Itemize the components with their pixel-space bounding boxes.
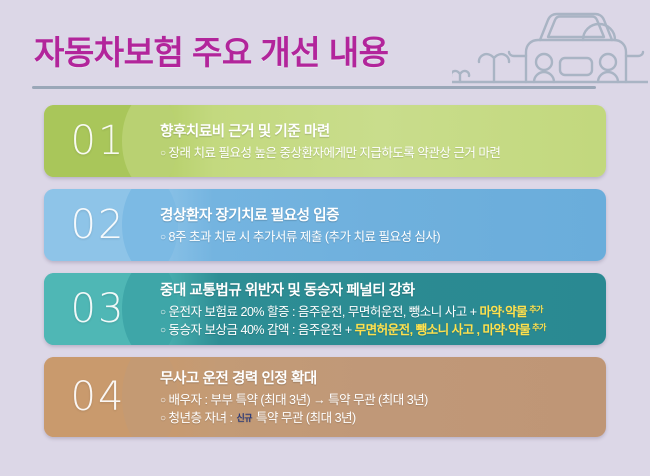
row-bullet: ○동승자 보상금 40% 감액 : 음주운전 + 무면허운전, 뺑소니 사고 ,… bbox=[160, 321, 594, 339]
car-front-illustration bbox=[452, 4, 648, 90]
bullet-text: 배우자 : 부부 특약 (최대 3년) → 특약 무관 (최대 3년) bbox=[169, 393, 428, 407]
row-number-badge-03: 03 bbox=[44, 273, 152, 345]
new-badge: 신규 bbox=[236, 413, 252, 423]
row-title: 무사고 운전 경력 인정 확대 bbox=[160, 367, 594, 388]
bullet-superscript: 추가 bbox=[529, 305, 543, 314]
bullet-marker-icon: ○ bbox=[160, 325, 166, 336]
bullet-superscript: 추가 bbox=[532, 323, 546, 332]
row-content-03: 중대 교통법규 위반자 및 동승자 페널티 강화 ○운전자 보험료 20% 할증… bbox=[156, 273, 594, 345]
row-bullet: ○청년층 자녀 : 신규 특약 무관 (최대 3년) bbox=[160, 409, 594, 427]
improvement-list: 01 향후치료비 근거 및 기준 마련 ○장래 치료 필요성 높은 중상환자에게… bbox=[0, 105, 650, 449]
bullet-text: 장래 치료 필요성 높은 중상환자에게만 지급하도록 약관상 근거 마련 bbox=[169, 146, 501, 160]
improvement-row-02[interactable]: 02 경상환자 장기치료 필요성 입증 ○8주 초과 치료 시 추가서류 제출 … bbox=[44, 189, 606, 261]
bullet-text: 8주 초과 치료 시 추가서류 제출 (추가 치료 필요성 심사) bbox=[169, 230, 441, 244]
bullet-text-lead: 운전자 보험료 20% 할증 : 음주운전, 무면허운전, 뺑소니 사고 + bbox=[169, 305, 480, 319]
bullet-marker-icon: ○ bbox=[160, 413, 166, 424]
row-number-badge-02: 02 bbox=[44, 189, 152, 261]
row-content-01: 향후치료비 근거 및 기준 마련 ○장래 치료 필요성 높은 중상환자에게만 지… bbox=[156, 105, 594, 177]
bullet-text-lead: 청년층 자녀 : bbox=[169, 411, 236, 425]
row-number-text: 03 bbox=[71, 286, 126, 332]
improvement-row-01[interactable]: 01 향후치료비 근거 및 기준 마련 ○장래 치료 필요성 높은 중상환자에게… bbox=[44, 105, 606, 177]
bullet-marker-icon: ○ bbox=[160, 148, 166, 159]
row-bullet: ○장래 치료 필요성 높은 중상환자에게만 지급하도록 약관상 근거 마련 bbox=[160, 144, 594, 162]
row-bullet: ○배우자 : 부부 특약 (최대 3년) → 특약 무관 (최대 3년) bbox=[160, 391, 594, 409]
bullet-text-tail: 특약 무관 (최대 3년) bbox=[253, 411, 356, 425]
improvement-row-03[interactable]: 03 중대 교통법규 위반자 및 동승자 페널티 강화 ○운전자 보험료 20%… bbox=[44, 273, 606, 345]
improvement-row-04[interactable]: 04 무사고 운전 경력 인정 확대 ○배우자 : 부부 특약 (최대 3년) … bbox=[44, 357, 606, 437]
row-title: 중대 교통법규 위반자 및 동승자 페널티 강화 bbox=[160, 279, 594, 300]
row-title: 향후치료비 근거 및 기준 마련 bbox=[160, 120, 594, 141]
row-content-02: 경상환자 장기치료 필요성 입증 ○8주 초과 치료 시 추가서류 제출 (추가… bbox=[156, 189, 594, 261]
row-number-badge-04: 04 bbox=[44, 357, 152, 437]
row-bullet: ○운전자 보험료 20% 할증 : 음주운전, 무면허운전, 뺑소니 사고 + … bbox=[160, 303, 594, 321]
row-number-text: 04 bbox=[71, 374, 126, 420]
row-bullet: ○8주 초과 치료 시 추가서류 제출 (추가 치료 필요성 심사) bbox=[160, 228, 594, 246]
bullet-text-lead: 동승자 보상금 40% 감액 : 음주운전 + bbox=[169, 323, 355, 337]
bullet-highlight: 무면허운전, 뺑소니 사고 , 마약·약물 bbox=[355, 323, 531, 337]
page-title: 자동차보험 주요 개선 내용 bbox=[34, 26, 388, 74]
bullet-highlight: 마약·약물 bbox=[480, 305, 528, 319]
bullet-marker-icon: ○ bbox=[160, 307, 166, 318]
bullet-marker-icon: ○ bbox=[160, 232, 166, 243]
page-header: 자동차보험 주요 개선 내용 bbox=[0, 0, 650, 100]
row-number-text: 01 bbox=[71, 118, 126, 164]
row-title: 경상환자 장기치료 필요성 입증 bbox=[160, 204, 594, 225]
bullet-marker-icon: ○ bbox=[160, 395, 166, 406]
row-number-badge-01: 01 bbox=[44, 105, 152, 177]
row-content-04: 무사고 운전 경력 인정 확대 ○배우자 : 부부 특약 (최대 3년) → 특… bbox=[156, 357, 594, 437]
row-number-text: 02 bbox=[71, 202, 126, 248]
